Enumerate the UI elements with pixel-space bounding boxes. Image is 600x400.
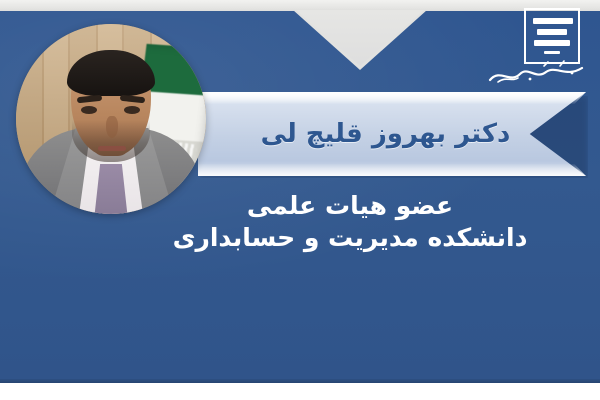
emblem-calligraphy-lines — [531, 15, 573, 57]
eye-right — [124, 106, 140, 114]
portrait-photo — [16, 24, 206, 214]
eye-left — [81, 106, 97, 114]
university-logo — [484, 6, 588, 86]
mouth — [98, 146, 126, 151]
faculty-position: عضو هیات علمی — [170, 190, 530, 222]
faculty-subtitle: عضو هیات علمی دانشکده مدیریت و حسابداری — [170, 190, 530, 254]
faculty-name: دکتر بهروز قلیچ لی — [208, 92, 563, 176]
university-emblem-icon — [524, 8, 580, 64]
faculty-profile-card: دکتر بهروز قلیچ لی عضو هیات علمی دانشکده… — [0, 0, 600, 400]
faculty-department: دانشکده مدیریت و حسابداری — [170, 222, 530, 254]
public-relations-script-icon — [486, 60, 586, 86]
bottom-white-band — [0, 383, 600, 400]
nose — [106, 116, 118, 138]
avatar — [16, 24, 206, 214]
